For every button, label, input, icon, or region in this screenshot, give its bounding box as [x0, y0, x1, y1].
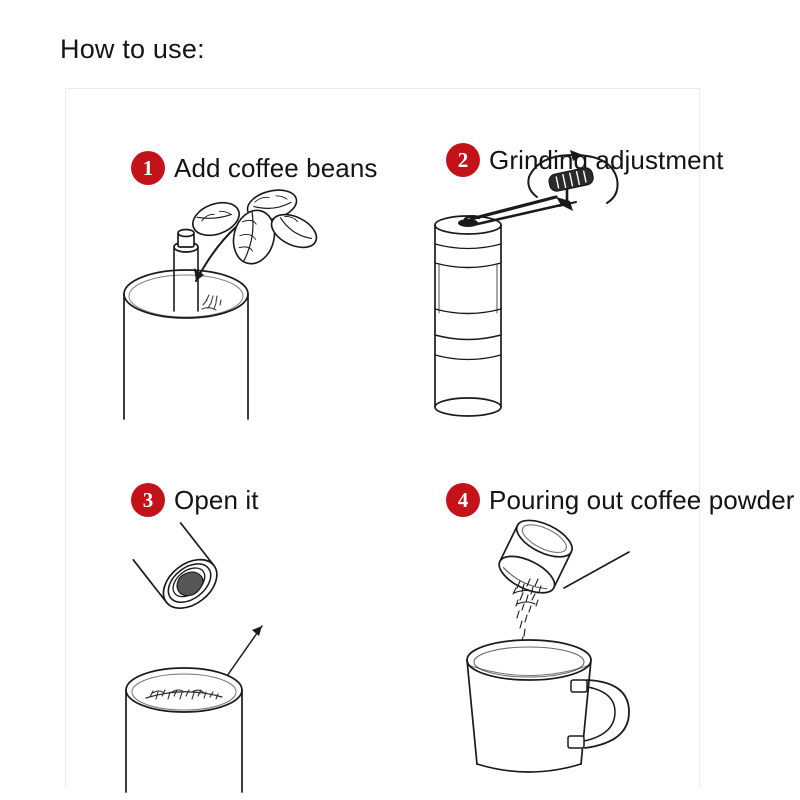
step-1: 1 Add coffee beans: [66, 89, 396, 419]
step-2-illustration: [421, 149, 661, 439]
step-4-illustration: [421, 514, 671, 774]
step-2: 2 Grinding adjustment: [396, 89, 701, 419]
step-3-badge: 3: [131, 483, 165, 517]
step-1-badge: 1: [131, 151, 165, 185]
page-title: How to use:: [60, 33, 205, 65]
step-4-label: Pouring out coffee powder: [489, 485, 795, 516]
step-4-badge: 4: [446, 483, 480, 517]
step-1-label: Add coffee beans: [174, 153, 378, 184]
step-3-label: Open it: [174, 485, 259, 516]
step-3-illustration: [106, 514, 336, 794]
step-4: 4 Pouring out coffee powder: [396, 419, 701, 789]
step-3: 3 Open it: [66, 419, 396, 789]
step-4-heading: 4 Pouring out coffee powder: [446, 483, 795, 517]
steps-panel: 1 Add coffee beans: [65, 88, 700, 788]
step-1-heading: 1 Add coffee beans: [131, 151, 378, 185]
step-1-illustration: [96, 189, 326, 419]
step-3-heading: 3 Open it: [131, 483, 259, 517]
